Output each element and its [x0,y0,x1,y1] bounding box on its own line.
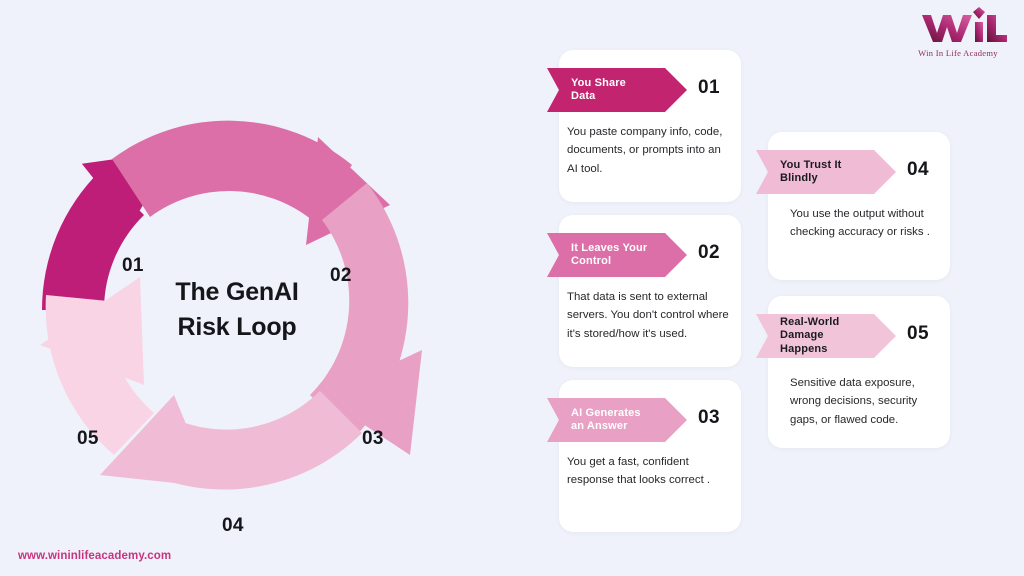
card-number-02: 02 [698,242,720,264]
card-body-03: You get a fast, confident response that … [567,453,731,490]
ribbon-title-04: You Trust It Blindly [780,159,862,186]
loop-number-04: 04 [222,515,244,537]
loop-number-05: 05 [77,428,99,450]
card-number-03: 03 [698,407,720,429]
ribbon-04: You Trust It Blindly [756,150,896,194]
risk-card-04: You Trust It Blindly 04 You use the outp… [768,132,950,280]
ribbon-03: AI Generates an Answer [547,398,687,442]
risk-card-05: Real-World Damage Happens 05 Sensitive d… [768,296,950,448]
loop-number-02: 02 [330,265,352,287]
card-body-01: You paste company info, code, documents,… [567,123,731,178]
brand-logo: Win In Life Academy [906,6,1010,60]
card-body-05: Sensitive data exposure, wrong decisions… [790,374,940,429]
card-number-01: 01 [698,77,720,99]
ribbon-05: Real-World Damage Happens [756,314,896,358]
ribbon-title-02: It Leaves Your Control [571,242,653,269]
genai-risk-loop-diagram: The GenAI Risk Loop 01 02 03 04 05 [22,95,452,525]
ribbon-02: It Leaves Your Control [547,233,687,277]
loop-arrows-graphic [22,95,452,525]
card-body-04: You use the output without checking accu… [790,205,940,242]
ribbon-title-05: Real-World Damage Happens [780,316,862,356]
card-number-05: 05 [907,323,929,345]
card-number-04: 04 [907,159,929,181]
risk-card-01: You Share Data 01 You paste company info… [559,50,741,202]
footer-website-url[interactable]: www.wininlifeacademy.com [18,550,171,562]
risk-card-03: AI Generates an Answer 03 You get a fast… [559,380,741,532]
card-body-02: That data is sent to external servers. Y… [567,288,731,343]
logo-mark-icon [906,6,1010,50]
ribbon-title-01: You Share Data [571,77,653,104]
loop-number-01: 01 [122,255,144,277]
ribbon-01: You Share Data [547,68,687,112]
risk-card-02: It Leaves Your Control 02 That data is s… [559,215,741,367]
logo-subtitle: Win In Life Academy [906,48,1010,58]
loop-number-03: 03 [362,428,384,450]
ribbon-title-03: AI Generates an Answer [571,407,653,434]
